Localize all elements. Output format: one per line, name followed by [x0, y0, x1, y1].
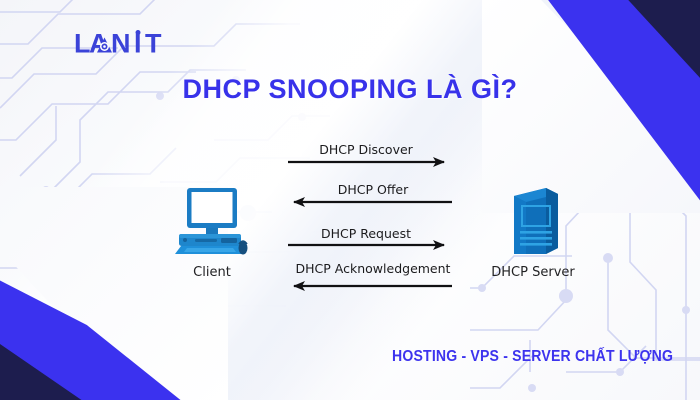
label-dhcp-request: DHCP Request — [288, 226, 444, 241]
banner-image: L A N I T DHCP SNOOPING LÀ GÌ? — [0, 0, 700, 400]
label-dhcp-discover: DHCP Discover — [288, 142, 444, 157]
label-dhcp-offer: DHCP Offer — [294, 182, 452, 197]
label-dhcp-acknowledgement: DHCP Acknowledgement — [283, 261, 463, 276]
message-arrows — [0, 0, 700, 400]
footer-tagline: HOSTING - VPS - SERVER CHẤT LƯỢNG — [392, 348, 673, 366]
dhcp-flow-diagram: Client DHCP Server — [0, 0, 700, 400]
